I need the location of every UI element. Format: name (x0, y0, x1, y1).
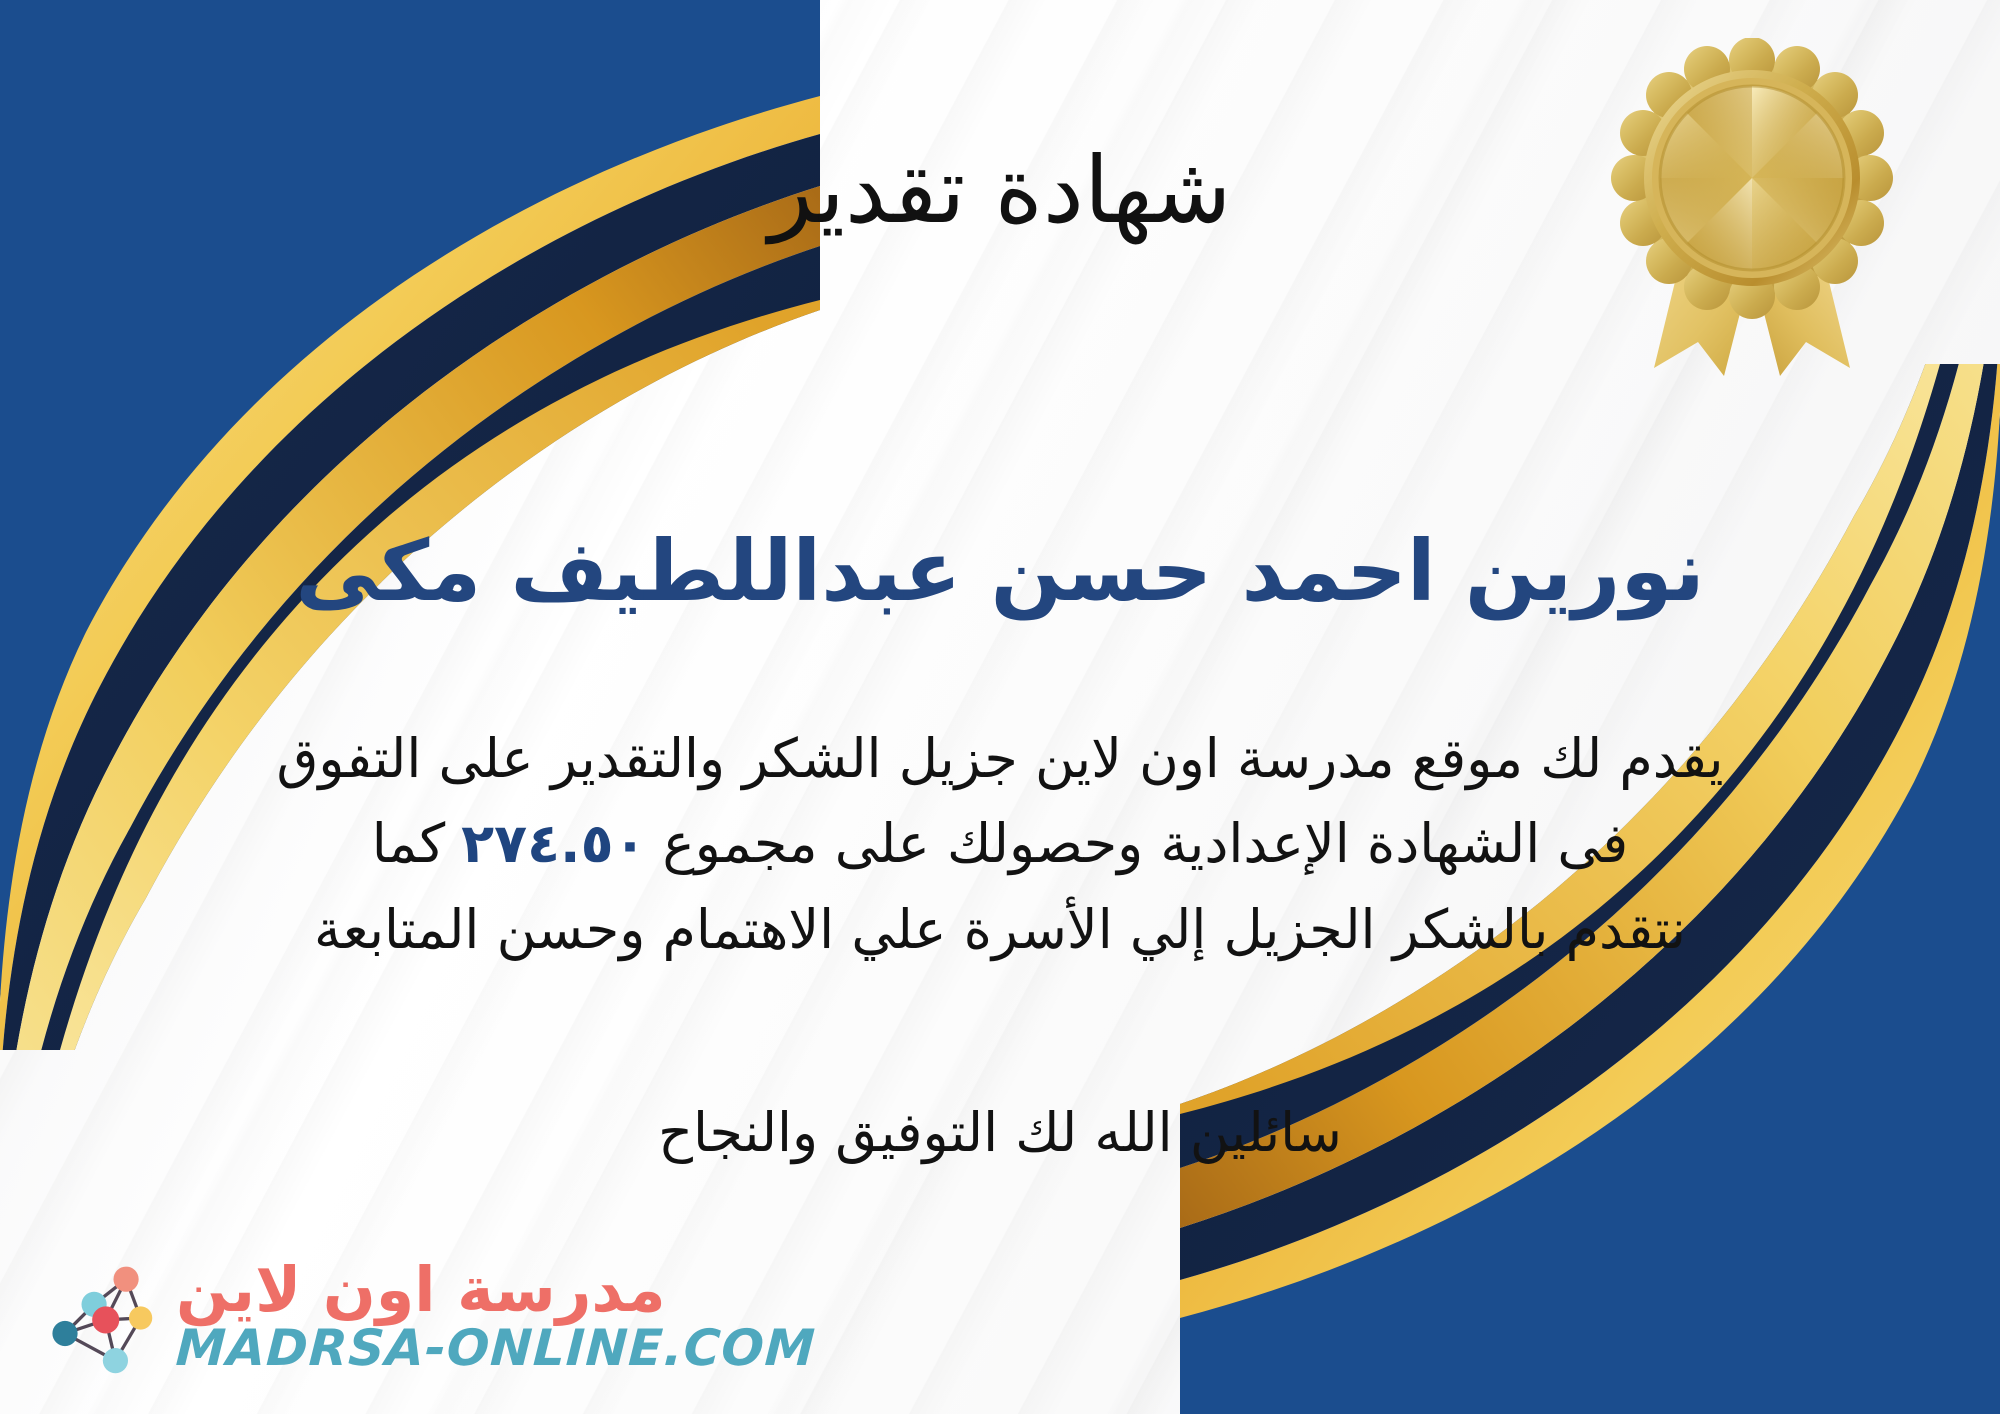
body-line-2-suffix: كما (372, 812, 445, 875)
recipient-name: نورين احمد حسن عبداللطيف مكى (0, 520, 2000, 622)
certificate-body: يقدم لك موقع مدرسة اون لاين جزيل الشكر و… (58, 716, 1942, 972)
brand-website: MADRSA-ONLINE.COM (175, 1321, 818, 1375)
body-line-2: فى الشهادة الإعدادية وحصولك على مجموع٢٧٤… (58, 801, 1942, 886)
certificate-content: شهادة تقدير نورين احمد حسن عبداللطيف مكى… (0, 0, 2000, 1414)
body-line-3: نتقدم بالشكر الجزيل إلي الأسرة علي الاهت… (58, 887, 1942, 972)
body-line-1: يقدم لك موقع مدرسة اون لاين جزيل الشكر و… (58, 716, 1942, 801)
body-line-2-prefix: فى الشهادة الإعدادية وحصولك على مجموع (662, 812, 1628, 875)
brand-logo[interactable]: مدرسة اون لاين MADRSA-ONLINE.COM (34, 1254, 816, 1380)
page-title: شهادة تقدير (0, 140, 2000, 241)
brand-wordmark: مدرسة اون لاين MADRSA-ONLINE.COM (176, 1259, 816, 1375)
closing-wish-line: سائلين الله لك التوفيق والنجاح (0, 1095, 2000, 1171)
brand-name-arabic: مدرسة اون لاين (176, 1259, 666, 1321)
network-graph-icon (34, 1254, 160, 1380)
certificate-canvas: شهادة تقدير نورين احمد حسن عبداللطيف مكى… (0, 0, 2000, 1414)
total-score-value: ٢٧٤.٥٠ (445, 812, 662, 875)
